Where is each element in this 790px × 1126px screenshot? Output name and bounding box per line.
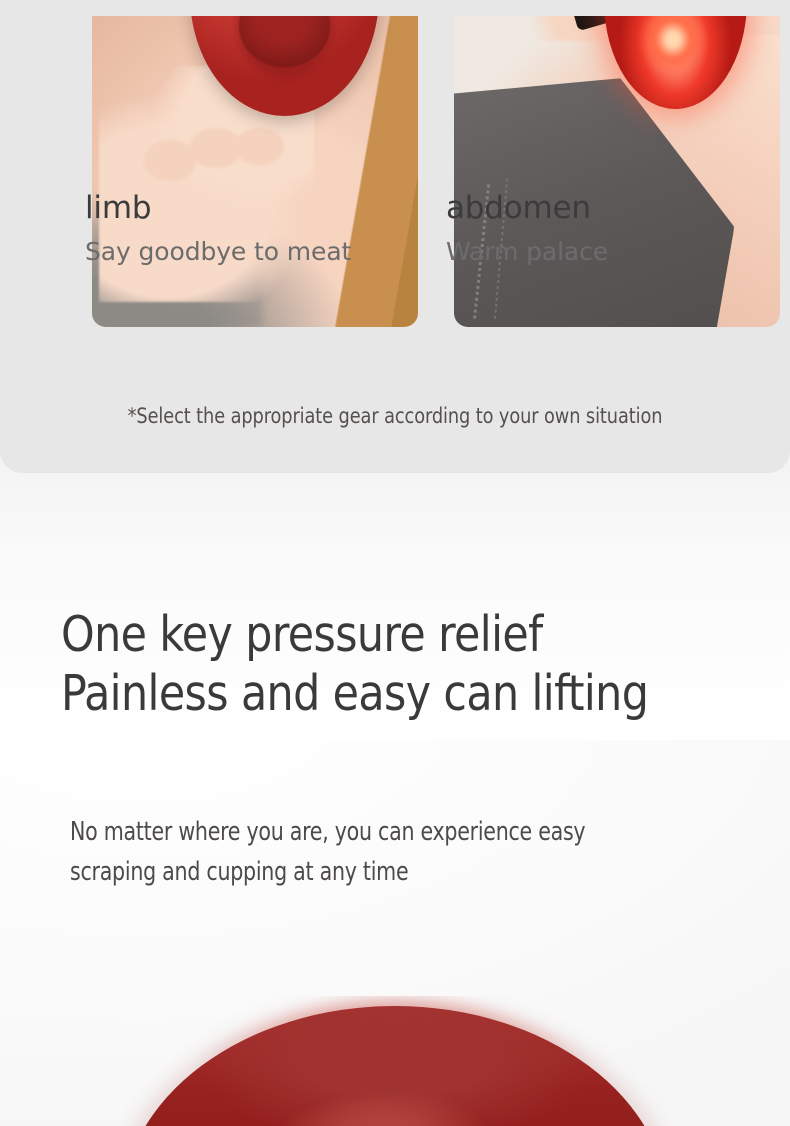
usage-photo-card-abdomen	[454, 16, 780, 327]
hero-headline-line-2: Painless and easy can lifting	[61, 664, 759, 723]
limb-photo-knuckle	[190, 128, 242, 168]
usage-title-abdomen: abdomen	[446, 189, 608, 227]
cupping-device-inner-ring	[239, 16, 330, 67]
limb-photo-image	[92, 16, 418, 327]
product-detail-page: limb Say goodbye to meat abdomen Warm pa…	[0, 0, 790, 1126]
hero-headline-line-1: One key pressure relief	[61, 605, 759, 664]
device-red-light-core	[633, 16, 713, 83]
hero-body-line-1: No matter where you are, you can experie…	[70, 812, 668, 852]
hero-body-copy: No matter where you are, you can experie…	[70, 812, 668, 892]
usage-subtitle-abdomen: Warm palace	[446, 237, 608, 267]
hero-body-line-2: scraping and cupping at any time	[70, 852, 668, 892]
usage-caption-abdomen: abdomen Warm palace	[446, 189, 608, 267]
usage-areas-panel: limb Say goodbye to meat abdomen Warm pa…	[0, 0, 790, 473]
hero-headline: One key pressure relief Painless and eas…	[61, 605, 759, 723]
usage-caption-limb: limb Say goodbye to meat	[85, 189, 351, 267]
hero-product-image	[0, 996, 790, 1126]
limb-photo-knuckle	[144, 140, 196, 180]
abdomen-photo-image	[454, 16, 780, 327]
usage-title-limb: limb	[85, 189, 351, 227]
usage-subtitle-limb: Say goodbye to meat	[85, 237, 351, 267]
gear-selection-footnote: *Select the appropriate gear according t…	[24, 402, 767, 430]
usage-photo-card-limb	[92, 16, 418, 327]
